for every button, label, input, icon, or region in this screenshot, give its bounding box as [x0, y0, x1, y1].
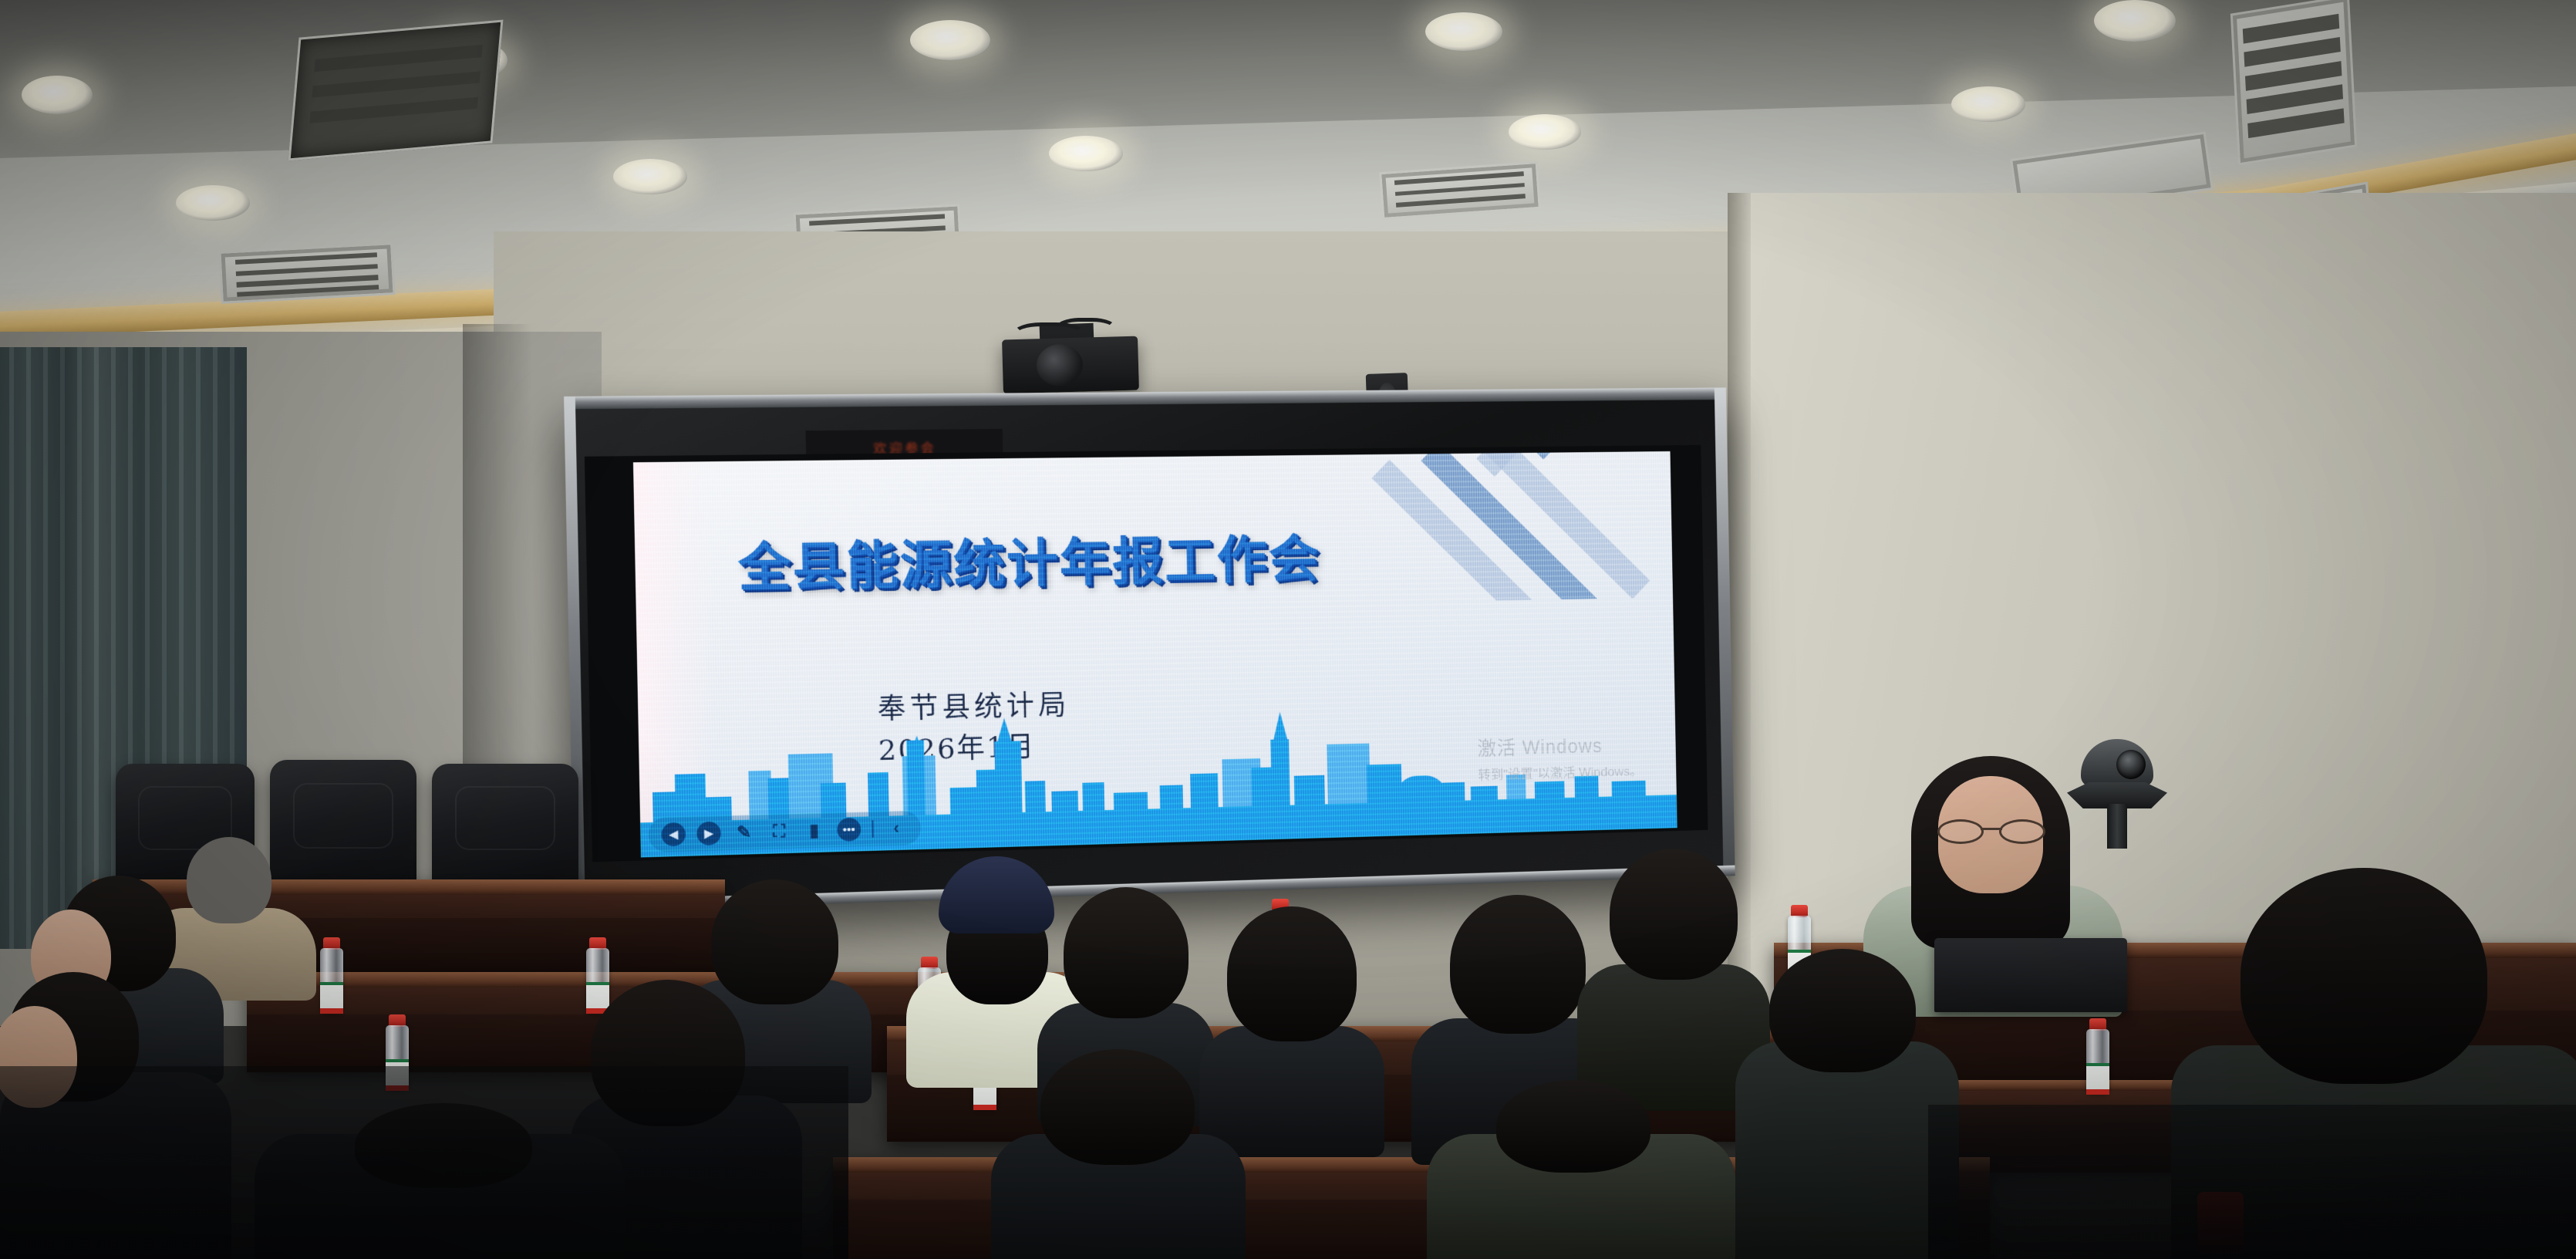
windows-activation-watermark: 激活 Windows 转到"设置"以激活 Windows。	[1477, 730, 1642, 783]
toolbar-separator	[872, 820, 873, 837]
attendee	[991, 1049, 1246, 1259]
more-options-button[interactable]: •••	[837, 818, 861, 842]
foreground-shadow	[1928, 1105, 2576, 1259]
presenter-glasses-icon	[1937, 819, 2045, 839]
slide-organization: 奉节县统计局	[877, 683, 1071, 727]
ceiling-downlight	[910, 20, 990, 60]
next-slide-button[interactable]: ▶	[696, 822, 721, 846]
collapse-toolbar-button[interactable]: ‹	[885, 816, 909, 840]
ceiling-downlight	[1425, 12, 1502, 51]
screen-surface: 全县能源统计年报工作会 奉节县统计局 2026年1月	[585, 445, 1708, 862]
ceiling-downlight	[1049, 136, 1123, 171]
ceiling-downlight	[1951, 86, 2025, 122]
ceiling-downlight	[22, 76, 93, 114]
pen-tool-button[interactable]: ✎	[732, 820, 757, 844]
conference-chair	[432, 764, 578, 887]
presentation-slide[interactable]: 全县能源统计年报工作会 奉节县统计局 2026年1月	[633, 451, 1677, 857]
presenter-laptop[interactable]	[1934, 938, 2127, 1012]
hvac-vent	[288, 19, 504, 160]
zoom-tool-button[interactable]: ⛶	[767, 819, 791, 843]
ceiling-downlight	[1509, 114, 1581, 150]
ceiling-downlight	[2094, 0, 2176, 42]
conference-room-photo: 欢迎参会 全县能源统计年报工作会 奉节县统计局 2026年1月	[0, 0, 2576, 1259]
projector-cable	[1055, 318, 1117, 345]
attendee	[1427, 1080, 1735, 1259]
record-button[interactable]: ▮	[802, 819, 826, 842]
previous-slide-button[interactable]: ◀	[661, 822, 686, 847]
led-display-screen[interactable]: 欢迎参会 全县能源统计年报工作会 奉节县统计局 2026年1月	[564, 387, 1735, 911]
foreground-shadow	[0, 1066, 848, 1259]
attendee	[1735, 949, 1959, 1259]
chevron-decoration	[1357, 451, 1673, 603]
hvac-vent	[2230, 0, 2357, 166]
slide-title: 全县能源统计年报工作会	[737, 518, 1321, 601]
ceiling-downlight	[176, 185, 250, 221]
ceiling-downlight	[613, 159, 687, 194]
watermark-line1: 激活 Windows	[1477, 730, 1642, 761]
hvac-vent	[218, 242, 395, 304]
